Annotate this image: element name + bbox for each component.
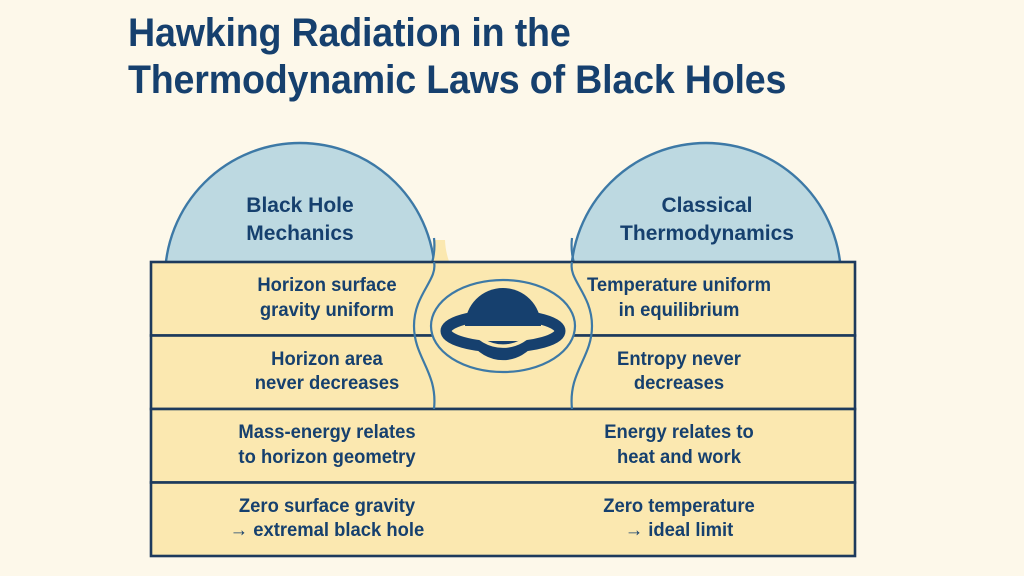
row-3-left-cell: Zero surface gravity → extremal black ho… (156, 483, 497, 557)
row-2-right-cell: Energy relates to heat and work (508, 409, 849, 483)
table-row: Horizon surface gravity uniform Temperat… (151, 262, 855, 336)
row-2-left-cell: Mass-energy relates to horizon geometry (156, 409, 497, 483)
row-1-left-cell: Horizon area never decreases (156, 336, 497, 410)
table-row: Horizon area never decreases Entropy nev… (151, 336, 855, 410)
row-0-left-cell: Horizon surface gravity uniform (156, 262, 497, 336)
comparison-table: Horizon surface gravity uniform Temperat… (151, 262, 855, 556)
row-0-right-cell: Temperature uniform in equilibrium (508, 262, 849, 336)
row-1-right-cell: Entropy never decreases (508, 336, 849, 410)
row-3-right-cell: Zero temperature → ideal limit (508, 483, 849, 557)
column-heading-black-hole-mechanics: Black Hole Mechanics (178, 192, 422, 247)
table-row: Zero surface gravity → extremal black ho… (151, 483, 855, 557)
column-heading-classical-thermodynamics: Classical Thermodynamics (585, 192, 829, 247)
infographic-canvas: Hawking Radiation in the Thermodynamic L… (0, 0, 1024, 576)
table-row: Mass-energy relates to horizon geometry … (151, 409, 855, 483)
